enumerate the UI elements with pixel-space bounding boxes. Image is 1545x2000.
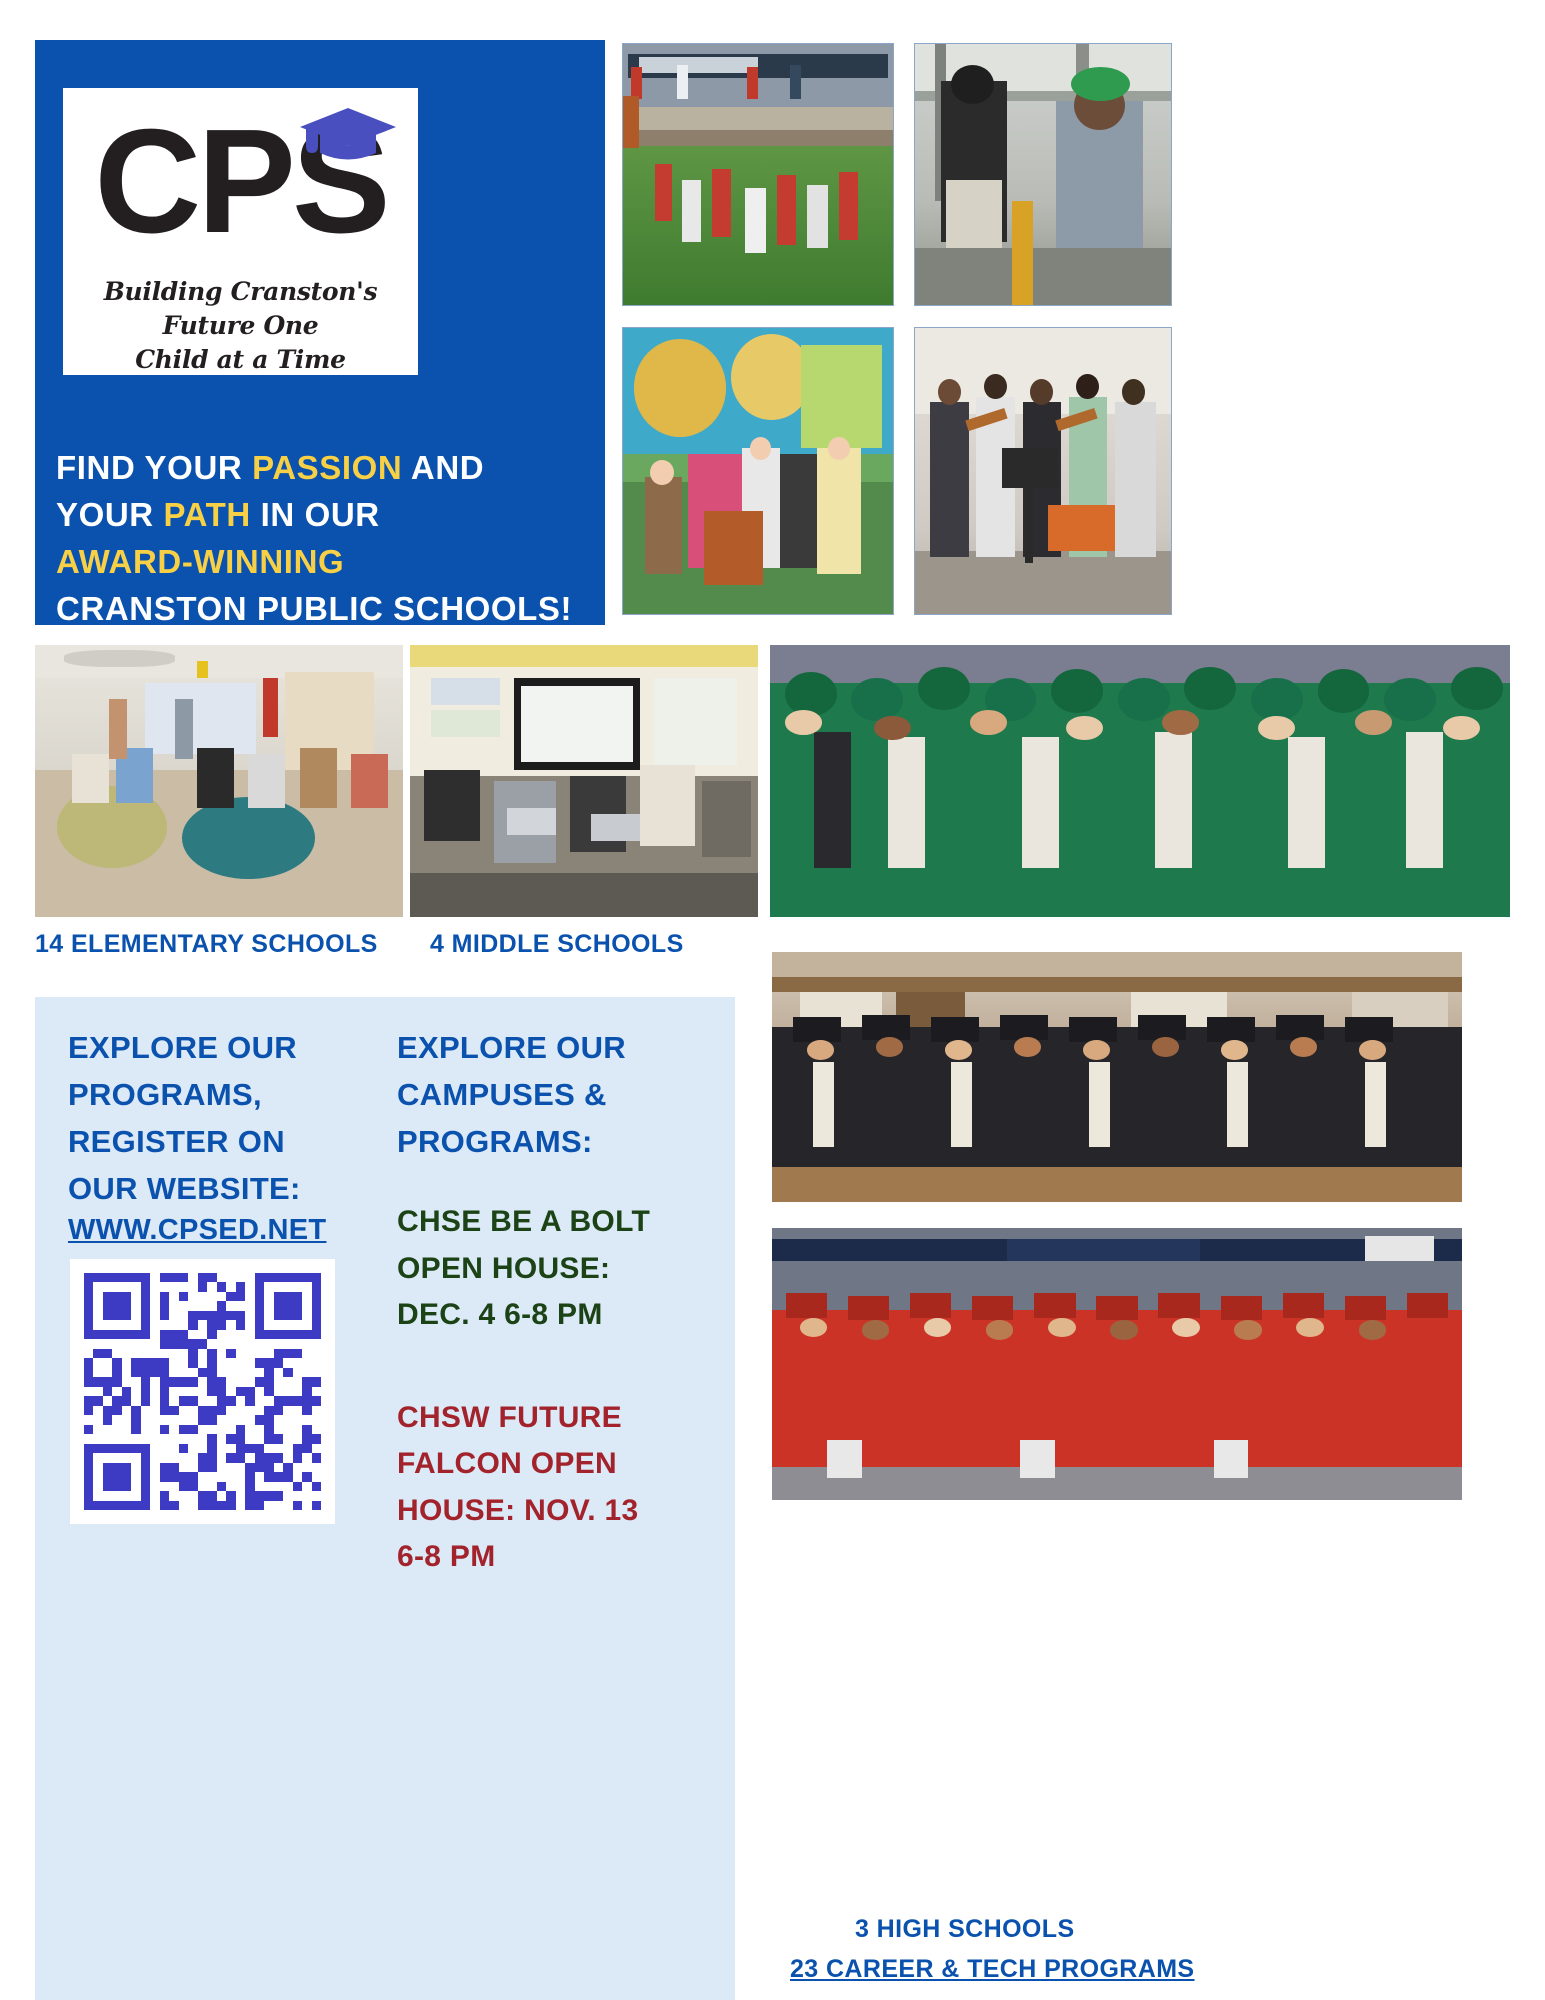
caption-career-tech-programs[interactable]: 23 CAREER & TECH PROGRAMS	[790, 1955, 1195, 1984]
graduation-green-gowns-photo	[770, 645, 1510, 917]
explore-campuses-line3: PROGRAMS:	[397, 1118, 717, 1165]
headline-line-2: YOUR PATH IN OUR	[56, 492, 596, 539]
caption-high-schools: 3 HIGH SCHOOLS	[855, 1915, 1075, 1944]
qr-code[interactable]	[70, 1259, 335, 1524]
hero-headline: FIND YOUR PASSION AND YOUR PATH IN OUR A…	[56, 445, 596, 632]
headline-line-1: FIND YOUR PASSION AND	[56, 445, 596, 492]
explore-programs-line3: REGISTER ON	[68, 1118, 398, 1165]
website-link[interactable]: WWW.CPSED.NET	[68, 1214, 326, 1247]
graduation-red-gowns-photo	[772, 1228, 1462, 1500]
explore-programs-line1: EXPLORE OUR	[68, 1024, 398, 1071]
graduation-cap-icon	[300, 106, 396, 166]
chsw-open-house-event: CHSW FUTURE FALCON OPEN HOUSE: NOV. 13 6…	[397, 1395, 717, 1581]
hero-panel: CPS Building Cranston's Future One Child…	[35, 40, 605, 625]
logo-tagline-line2: Child at a Time	[63, 343, 418, 377]
info-column-left: EXPLORE OUR PROGRAMS, REGISTER ON OUR WE…	[68, 1024, 398, 1247]
explore-programs-line4: OUR WEBSITE:	[68, 1165, 398, 1212]
ctc-welding-students-photo	[914, 43, 1172, 306]
logo-wordmark-wrap: CPS	[63, 94, 418, 270]
explore-campuses-line2: CAMPUSES &	[397, 1071, 717, 1118]
chsw-event-time: 6-8 PM	[397, 1534, 717, 1581]
info-panel: EXPLORE OUR PROGRAMS, REGISTER ON OUR WE…	[35, 997, 735, 2000]
cps-logo-card: CPS Building Cranston's Future One Child…	[63, 88, 418, 375]
orchestra-strings-photo	[914, 327, 1172, 615]
caption-middle-schools: 4 MIDDLE SCHOOLS	[430, 930, 684, 959]
chse-event-line2: OPEN HOUSE:	[397, 1246, 717, 1293]
chsw-event-line3: HOUSE: NOV. 13	[397, 1488, 717, 1535]
explore-programs-line2: PROGRAMS,	[68, 1071, 398, 1118]
headline-and: AND	[402, 449, 484, 486]
chse-open-house-event: CHSE BE A BOLT OPEN HOUSE: DEC. 4 6-8 PM	[397, 1199, 717, 1339]
logo-tagline-line1: Building Cranston's Future One	[63, 275, 418, 343]
headline-line-4: CRANSTON PUBLIC SCHOOLS!	[56, 586, 596, 633]
explore-campuses-heading: EXPLORE OUR CAMPUSES & PROGRAMS:	[397, 1024, 717, 1165]
chse-event-date: DEC. 4 6-8 PM	[397, 1292, 717, 1339]
graduation-black-gowns-photo	[772, 952, 1462, 1202]
headline-find-your: FIND YOUR	[56, 449, 252, 486]
football-game-photo	[622, 43, 894, 306]
elementary-classroom-photo	[35, 645, 403, 917]
logo-tagline: Building Cranston's Future One Child at …	[63, 275, 418, 376]
explore-campuses-line1: EXPLORE OUR	[397, 1024, 717, 1071]
caption-elementary-schools: 14 ELEMENTARY SCHOOLS	[35, 930, 378, 959]
info-column-right: EXPLORE OUR CAMPUSES & PROGRAMS: CHSE BE…	[397, 1024, 717, 1581]
explore-programs-heading: EXPLORE OUR PROGRAMS, REGISTER ON OUR WE…	[68, 1024, 398, 1212]
theater-performance-photo	[622, 327, 894, 615]
headline-passion: PASSION	[252, 449, 402, 486]
headline-line-3: AWARD-WINNING	[56, 539, 596, 586]
chse-event-line1: CHSE BE A BOLT	[397, 1199, 717, 1246]
flyer-page: CPS Building Cranston's Future One Child…	[0, 0, 1545, 2000]
chsw-event-line2: FALCON OPEN	[397, 1441, 717, 1488]
headline-your: YOUR	[56, 496, 164, 533]
headline-in-our: IN OUR	[251, 496, 380, 533]
chsw-event-line1: CHSW FUTURE	[397, 1395, 717, 1442]
qr-code-grid	[84, 1273, 321, 1510]
middle-school-tech-photo	[410, 645, 758, 917]
headline-path: PATH	[164, 496, 251, 533]
